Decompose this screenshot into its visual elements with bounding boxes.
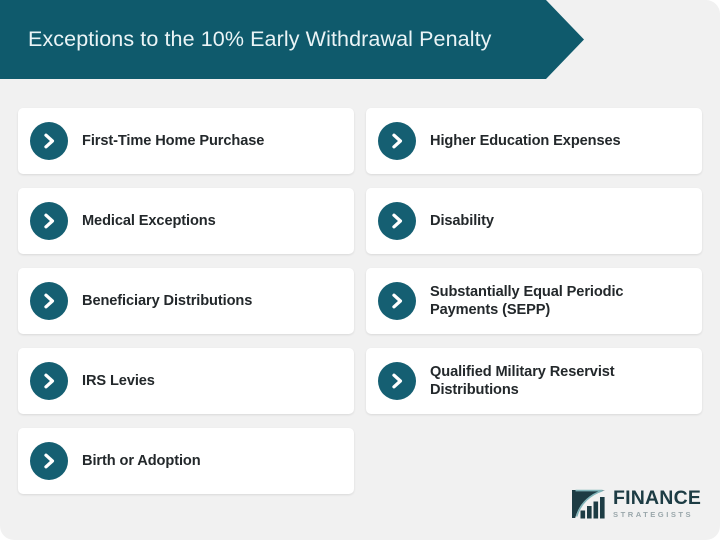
chevron-right-circle-icon <box>378 122 416 160</box>
list-item-label: First-Time Home Purchase <box>82 132 274 150</box>
header-banner: Exceptions to the 10% Early Withdrawal P… <box>0 0 584 79</box>
logo-word-strategists: STRATEGISTS <box>613 511 701 519</box>
list-item-label: Higher Education Expenses <box>430 132 631 150</box>
list-item-label: Disability <box>430 212 504 230</box>
exceptions-grid: First-Time Home Purchase Medical Excepti… <box>18 108 702 494</box>
chevron-right-circle-icon <box>30 282 68 320</box>
list-item-label: IRS Levies <box>82 372 165 390</box>
list-item[interactable]: Qualified Military Reservist Distributio… <box>366 348 702 414</box>
list-item-label: Substantially Equal Periodic Payments (S… <box>430 283 702 319</box>
logo-wordmark: FINANCE STRATEGISTS <box>613 489 701 518</box>
list-item[interactable]: Disability <box>366 188 702 254</box>
finance-strategists-logo: FINANCE STRATEGISTS <box>571 485 704 523</box>
list-item[interactable]: IRS Levies <box>18 348 354 414</box>
chevron-right-circle-icon <box>30 122 68 160</box>
list-item[interactable]: Medical Exceptions <box>18 188 354 254</box>
list-item-label: Medical Exceptions <box>82 212 226 230</box>
list-item[interactable]: Substantially Equal Periodic Payments (S… <box>366 268 702 334</box>
chevron-right-circle-icon <box>378 362 416 400</box>
infographic-root: Exceptions to the 10% Early Withdrawal P… <box>0 0 720 553</box>
list-item[interactable]: Birth or Adoption <box>18 428 354 494</box>
chevron-right-circle-icon <box>30 442 68 480</box>
left-column: First-Time Home Purchase Medical Excepti… <box>18 108 354 494</box>
chart-swoosh-logo-icon <box>571 489 608 520</box>
chevron-right-circle-icon <box>378 202 416 240</box>
list-item-label: Qualified Military Reservist Distributio… <box>430 363 702 399</box>
list-item-label: Beneficiary Distributions <box>82 292 262 310</box>
list-item[interactable]: Beneficiary Distributions <box>18 268 354 334</box>
chevron-right-circle-icon <box>30 362 68 400</box>
chevron-right-circle-icon <box>30 202 68 240</box>
chevron-right-circle-icon <box>378 282 416 320</box>
list-item-label: Birth or Adoption <box>82 452 211 470</box>
logo-word-finance: FINANCE <box>613 489 701 509</box>
list-item[interactable]: Higher Education Expenses <box>366 108 702 174</box>
right-column: Higher Education Expenses Disability Sub… <box>366 108 702 494</box>
list-item[interactable]: First-Time Home Purchase <box>18 108 354 174</box>
page-title: Exceptions to the 10% Early Withdrawal P… <box>28 0 492 79</box>
